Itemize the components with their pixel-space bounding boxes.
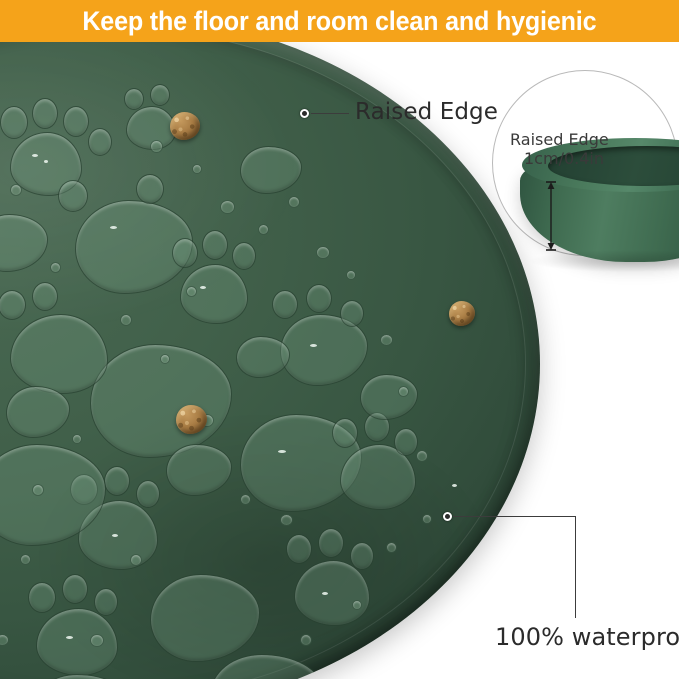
water-droplet bbox=[386, 542, 397, 553]
callout-dot-icon bbox=[300, 109, 309, 118]
water-droplet bbox=[422, 514, 432, 524]
water-highlight bbox=[110, 226, 117, 229]
product-photo: Raised Edge 100% waterproof bbox=[0, 42, 679, 679]
water-droplet bbox=[316, 246, 330, 259]
leader-line bbox=[453, 516, 575, 517]
water-droplet bbox=[300, 634, 312, 646]
water-highlight bbox=[452, 484, 457, 487]
water-droplet bbox=[72, 434, 82, 444]
water-puddle bbox=[0, 106, 28, 139]
water-puddle bbox=[332, 418, 358, 448]
callout-dot-icon bbox=[443, 512, 452, 521]
water-highlight bbox=[200, 286, 206, 289]
water-droplet bbox=[380, 334, 393, 346]
water-puddle bbox=[272, 290, 298, 319]
water-droplet bbox=[346, 270, 356, 280]
water-highlight bbox=[322, 592, 328, 595]
water-puddle bbox=[232, 242, 256, 270]
water-puddle bbox=[150, 84, 170, 106]
leader-line bbox=[575, 516, 576, 618]
water-droplet bbox=[258, 224, 269, 235]
water-highlight bbox=[44, 160, 48, 163]
water-puddle bbox=[136, 174, 164, 204]
water-droplet bbox=[130, 554, 142, 566]
water-puddle bbox=[36, 608, 118, 676]
water-puddle bbox=[32, 98, 58, 129]
water-puddle bbox=[340, 300, 364, 327]
water-puddle bbox=[63, 106, 89, 137]
water-droplet bbox=[288, 196, 300, 208]
water-puddle bbox=[136, 480, 160, 508]
water-puddle bbox=[350, 542, 374, 570]
water-puddle bbox=[28, 582, 56, 613]
kibble-piece bbox=[398, 634, 436, 670]
water-highlight bbox=[310, 344, 317, 347]
water-droplet bbox=[32, 484, 44, 496]
water-puddle bbox=[318, 528, 344, 558]
header-banner: Keep the floor and room clean and hygien… bbox=[0, 0, 679, 42]
water-puddle bbox=[306, 284, 332, 313]
header-title: Keep the floor and room clean and hygien… bbox=[82, 8, 596, 35]
water-highlight bbox=[66, 636, 73, 639]
water-puddle bbox=[32, 282, 58, 311]
water-puddle bbox=[10, 314, 108, 394]
water-droplet bbox=[120, 314, 132, 326]
water-droplet bbox=[416, 450, 428, 462]
water-puddle bbox=[94, 588, 118, 616]
water-puddle bbox=[58, 180, 88, 212]
water-droplet bbox=[50, 262, 61, 273]
water-puddle bbox=[172, 238, 198, 268]
water-puddle bbox=[104, 466, 130, 496]
water-droplet bbox=[398, 386, 409, 397]
water-droplet bbox=[10, 184, 22, 196]
leader-line bbox=[311, 113, 349, 114]
water-puddle bbox=[202, 230, 228, 260]
water-droplet bbox=[240, 494, 251, 505]
infographic-canvas: Keep the floor and room clean and hygien… bbox=[0, 0, 679, 679]
water-puddle bbox=[124, 88, 144, 110]
water-puddle bbox=[394, 428, 418, 456]
water-droplet bbox=[220, 200, 235, 214]
raised-edge-detail-inset bbox=[492, 70, 678, 256]
water-droplet bbox=[90, 634, 104, 647]
water-highlight bbox=[32, 154, 38, 157]
water-droplet bbox=[20, 554, 31, 565]
pet-feeding-mat bbox=[0, 42, 540, 679]
water-droplet bbox=[160, 354, 170, 364]
water-puddle bbox=[286, 534, 312, 564]
water-puddle bbox=[294, 560, 370, 626]
water-droplet bbox=[150, 140, 163, 153]
water-droplet bbox=[280, 514, 293, 526]
callout-label-raised-edge: Raised Edge bbox=[355, 99, 498, 125]
water-droplet bbox=[352, 600, 362, 610]
water-droplet bbox=[192, 164, 202, 174]
water-droplet bbox=[186, 286, 197, 297]
water-highlight bbox=[278, 450, 286, 453]
water-puddle bbox=[62, 574, 88, 604]
water-puddle bbox=[88, 128, 112, 156]
callout-label-waterproof: 100% waterproof bbox=[495, 623, 679, 651]
water-highlight bbox=[112, 534, 118, 537]
